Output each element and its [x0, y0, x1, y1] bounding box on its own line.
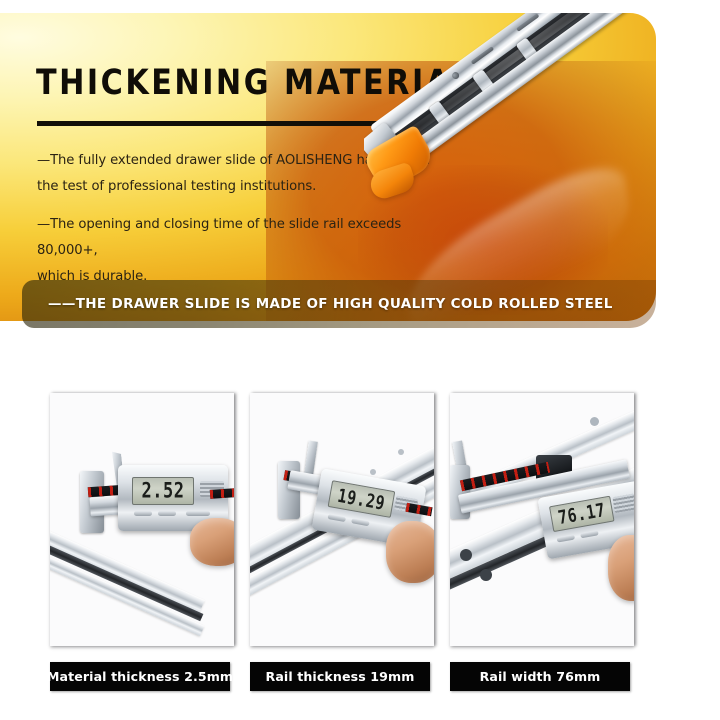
caliper-thumbwheel — [612, 493, 634, 513]
caliper-reading: 76.17 — [556, 499, 607, 529]
caliper-zero-button — [186, 511, 210, 516]
product-infographic-page: THICKENING MATERIALS —The fully extended… — [0, 0, 720, 720]
hero-section: THICKENING MATERIALS —The fully extended… — [0, 13, 656, 321]
measurement-card: 76.17 — [450, 393, 634, 646]
drawer-slide-assembly — [370, 13, 656, 172]
measurement-card: 19.29 — [250, 393, 434, 646]
caliper-lcd-screen: 2.52 — [132, 477, 194, 505]
hand-thumb — [386, 521, 434, 583]
caliper-on-button — [351, 518, 370, 526]
caption-label: Rail thickness 19mm — [266, 669, 415, 684]
hand-thumb — [608, 535, 634, 601]
caliper-photo-material-thickness: 2.52 — [50, 393, 234, 646]
caliper-on-button — [580, 530, 599, 538]
caliper-photo-rail-thickness: 19.29 — [250, 393, 434, 646]
caliper-reading: 19.29 — [336, 484, 387, 514]
caliper-reading: 2.52 — [142, 479, 185, 504]
caption-rail-width: Rail width 76mm — [450, 662, 630, 691]
caption-rail-thickness: Rail thickness 19mm — [250, 662, 430, 691]
caliper-photo-rail-width: 76.17 — [450, 393, 634, 646]
caption-label: Rail width 76mm — [480, 669, 601, 684]
quality-banner-text: ——THE DRAWER SLIDE IS MADE OF HIGH QUALI… — [48, 296, 613, 312]
rail-mounting-hole — [480, 569, 492, 581]
caliper-scale-end — [210, 488, 234, 499]
caliper-lcd-screen: 19.29 — [328, 480, 396, 518]
rail-mounting-hole — [398, 449, 404, 455]
caption-row: Material thickness 2.5mm Rail thickness … — [0, 662, 720, 692]
quality-banner: ——THE DRAWER SLIDE IS MADE OF HIGH QUALI… — [22, 280, 656, 328]
rail-mounting-hole — [370, 469, 376, 475]
measurement-card: 2.52 — [50, 393, 234, 646]
drawer-slide-product-image — [364, 13, 656, 321]
caption-label: Material thickness 2.5mm — [47, 669, 233, 684]
caliper-on-button — [158, 511, 176, 516]
rail-mounting-hole — [590, 417, 599, 426]
measurement-photo-gallery: 2.52 — [0, 393, 720, 648]
hand-thumb — [190, 518, 234, 566]
rail-mounting-hole — [460, 549, 472, 561]
caliper-off-button — [327, 514, 346, 522]
caption-material-thickness: Material thickness 2.5mm — [50, 662, 230, 691]
caliper-lcd-screen: 76.17 — [549, 496, 615, 532]
caliper-off-button — [134, 511, 152, 516]
caliper-off-button — [557, 534, 576, 542]
